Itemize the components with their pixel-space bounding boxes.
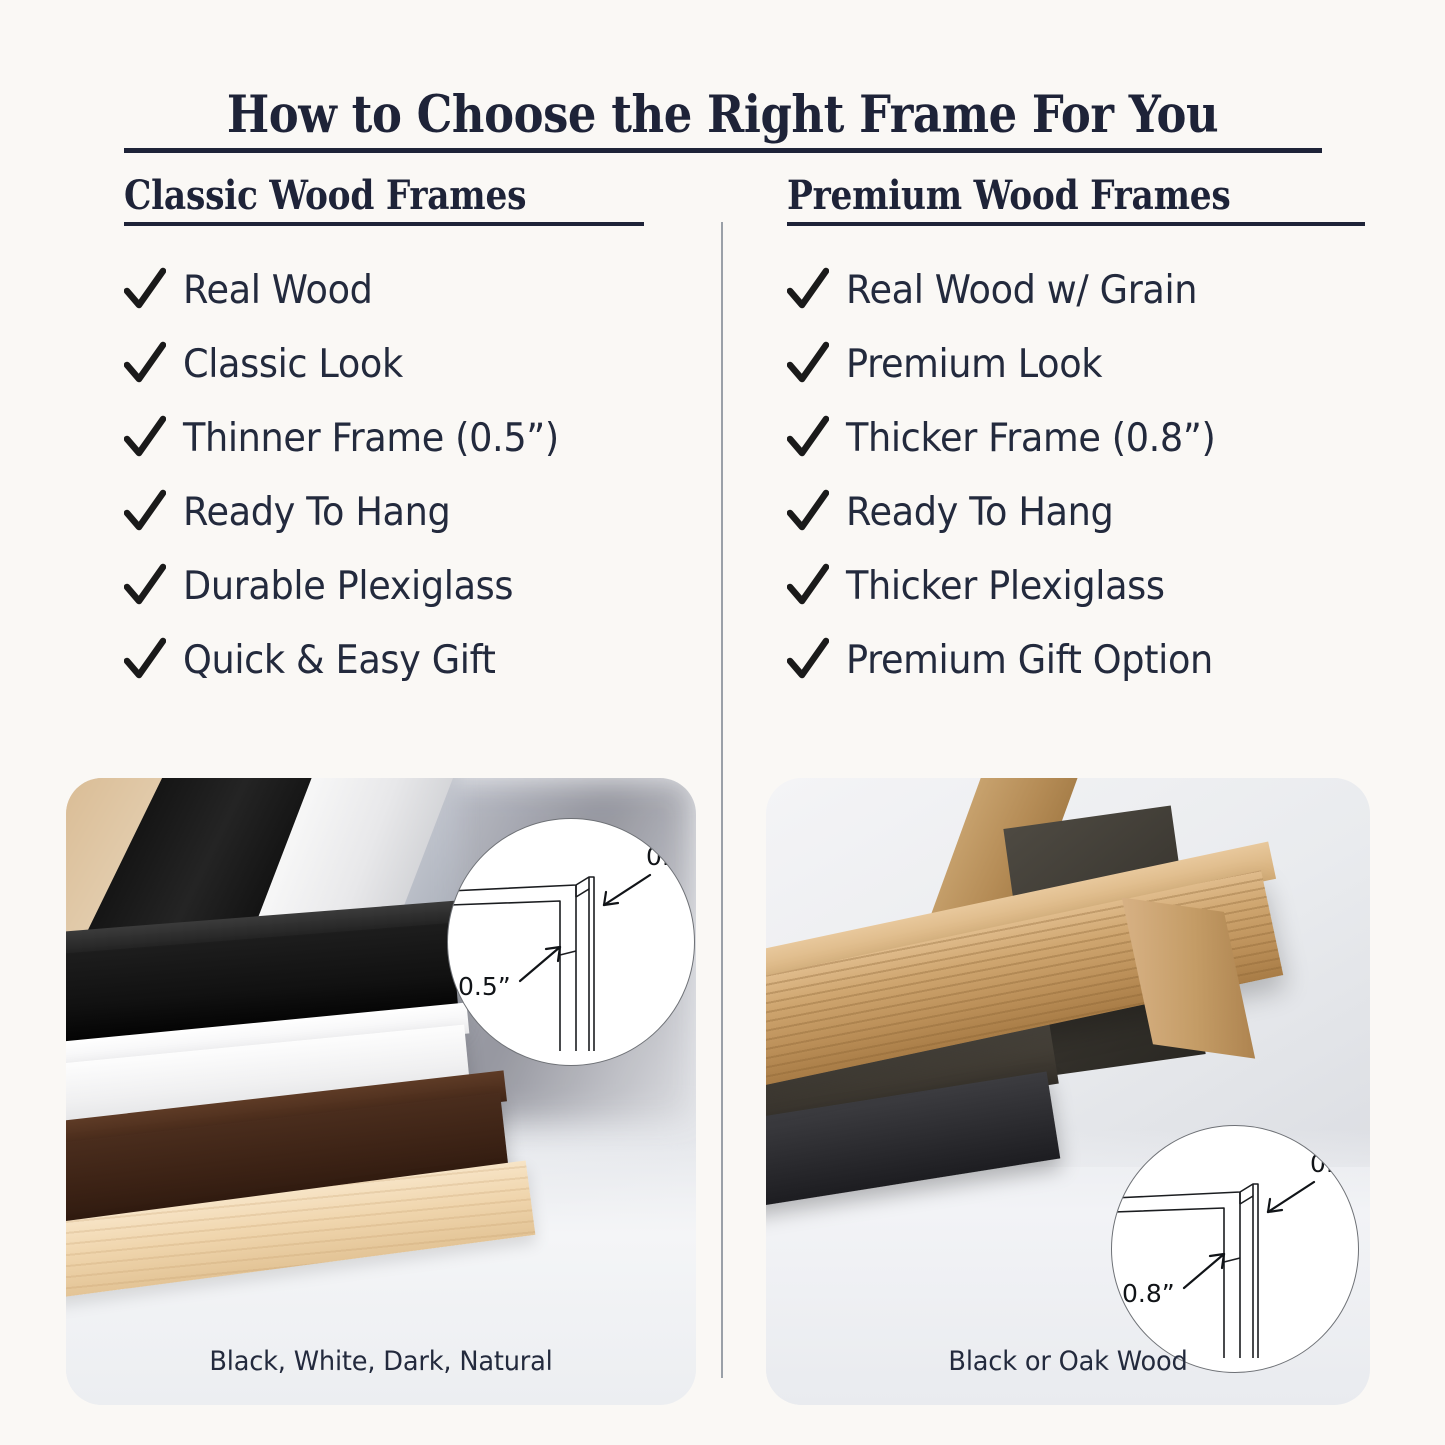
check-mark-icon <box>124 341 166 387</box>
page-title: How to Choose the Right Frame For You <box>87 85 1359 145</box>
dimension-diagram-premium: 0.8” 0.8” <box>1111 1125 1359 1373</box>
list-item: Thicker Frame (0.8”) <box>787 401 1387 475</box>
feature-list-classic: Real Wood Classic Look Thinner Frame (0.… <box>124 253 694 697</box>
frame-cross-section-diagram: 0.8” 0.8” <box>1112 1126 1358 1372</box>
inner-dimension-label: 0.5” <box>458 972 511 1001</box>
list-item-label: Thicker Plexiglass <box>846 567 1165 606</box>
list-item: Ready To Hang <box>787 475 1387 549</box>
check-mark-icon <box>787 637 829 683</box>
list-item: Real Wood <box>124 253 694 327</box>
list-item: Premium Look <box>787 327 1387 401</box>
column-divider <box>721 222 723 1378</box>
list-item-label: Ready To Hang <box>183 493 450 532</box>
column-title-premium-underline <box>787 222 1365 226</box>
check-mark-icon <box>787 563 829 609</box>
frame-cross-section-diagram: 0.75” 0.5” <box>448 819 694 1065</box>
inner-dimension-label: 0.8” <box>1122 1279 1175 1308</box>
page-title-underline <box>124 148 1322 153</box>
list-item: Premium Gift Option <box>787 623 1387 697</box>
check-mark-icon <box>787 415 829 461</box>
photo-caption-classic: Black, White, Dark, Natural <box>82 1346 681 1377</box>
list-item: Real Wood w/ Grain <box>787 253 1387 327</box>
check-mark-icon <box>124 637 166 683</box>
check-mark-icon <box>787 267 829 313</box>
list-item-label: Quick & Easy Gift <box>183 641 495 680</box>
photo-card-premium: 0.8” 0.8” Black or Oak Wood <box>766 778 1370 1405</box>
list-item-label: Thicker Frame (0.8”) <box>846 419 1215 458</box>
feature-list-premium: Real Wood w/ Grain Premium Look Thicker … <box>787 253 1387 697</box>
list-item: Thinner Frame (0.5”) <box>124 401 694 475</box>
list-item-label: Ready To Hang <box>846 493 1113 532</box>
check-mark-icon <box>124 267 166 313</box>
list-item-label: Premium Gift Option <box>846 641 1213 680</box>
list-item-label: Durable Plexiglass <box>183 567 513 606</box>
comparison-infographic: How to Choose the Right Frame For You Cl… <box>0 0 1445 1445</box>
column-title-classic-underline <box>124 222 644 226</box>
check-mark-icon <box>124 563 166 609</box>
photo-card-classic: 0.75” 0.5” Black, White, Dark, Natural <box>66 778 696 1405</box>
list-item-label: Classic Look <box>183 345 403 384</box>
check-mark-icon <box>124 489 166 535</box>
list-item-label: Real Wood <box>183 271 373 310</box>
list-item: Thicker Plexiglass <box>787 549 1387 623</box>
check-mark-icon <box>787 341 829 387</box>
list-item-label: Premium Look <box>846 345 1102 384</box>
list-item-label: Real Wood w/ Grain <box>846 271 1197 310</box>
list-item-label: Thinner Frame (0.5”) <box>183 419 559 458</box>
column-title-classic: Classic Wood Frames <box>124 172 526 219</box>
list-item: Ready To Hang <box>124 475 694 549</box>
list-item: Quick & Easy Gift <box>124 623 694 697</box>
dimension-diagram-classic: 0.75” 0.5” <box>447 818 695 1066</box>
list-item: Durable Plexiglass <box>124 549 694 623</box>
check-mark-icon <box>124 415 166 461</box>
list-item: Classic Look <box>124 327 694 401</box>
column-title-premium: Premium Wood Frames <box>787 172 1230 219</box>
check-mark-icon <box>787 489 829 535</box>
photo-caption-premium: Black or Oak Wood <box>781 1346 1355 1377</box>
